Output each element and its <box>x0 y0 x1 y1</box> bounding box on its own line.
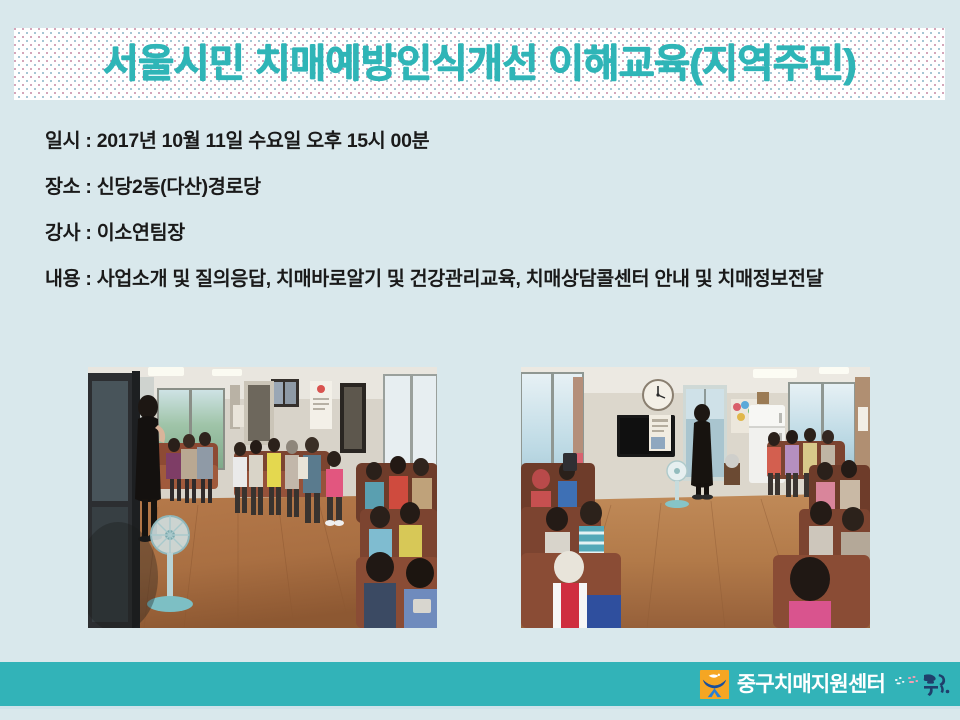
photo-left-image <box>88 367 437 628</box>
info-content: 내용 : 사업소개 및 질의응답, 치매바로알기 및 건강관리교육, 치매상담콜… <box>45 266 925 294</box>
photo-left <box>88 367 437 628</box>
info-place: 장소 : 신당2동(다산)경로당 <box>45 174 925 200</box>
slide-canvas: 서울시민 치매예방인식개선 이해교육(지역주민) 일시 : 2017년 10월 … <box>0 0 960 720</box>
info-datetime: 일시 : 2017년 10월 11일 수요일 오후 15시 00분 <box>45 128 925 154</box>
event-info-block: 일시 : 2017년 10월 11일 수요일 오후 15시 00분 장소 : 신… <box>45 128 925 294</box>
district-brand-mark <box>894 669 952 699</box>
footer-org-name: 중구치매지원센터 <box>737 674 885 695</box>
photo-right-image <box>521 367 870 628</box>
page-title: 서울시민 치매예방인식개선 이해교육(지역주민) <box>103 45 856 84</box>
wall-clock <box>643 380 673 410</box>
footer-bar: 중구치매지원센터 <box>0 662 960 706</box>
center-logo-icon <box>699 669 730 700</box>
title-banner: 서울시민 치매예방인식개선 이해교육(지역주민) <box>14 28 945 100</box>
footer-brand: 중구치매지원센터 <box>699 662 952 706</box>
info-lecturer: 강사 : 이소연팀장 <box>45 220 925 246</box>
footer-underline <box>0 706 960 709</box>
photo-right <box>521 367 870 628</box>
